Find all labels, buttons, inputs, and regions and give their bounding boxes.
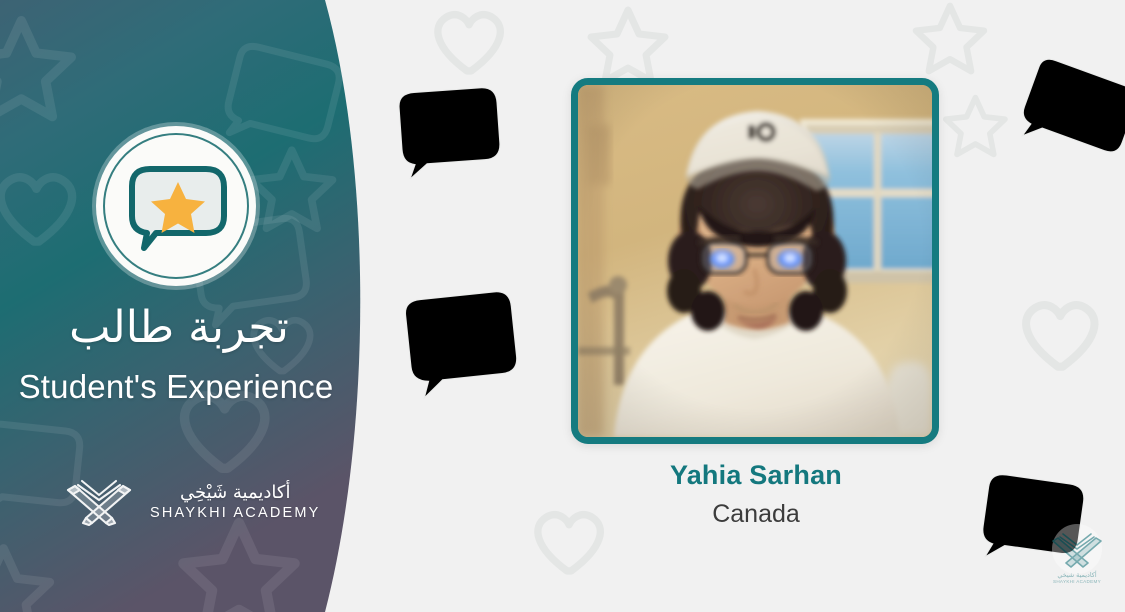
brand-text: أكاديمية شَيْخِي SHAYKHI ACADEMY bbox=[150, 483, 321, 522]
student-video-card[interactable] bbox=[571, 78, 939, 444]
heart-icon bbox=[438, 15, 500, 71]
review-badge bbox=[96, 126, 256, 286]
panel-title-arabic: تجربة طالب bbox=[0, 302, 358, 353]
watermark-logo: أكاديمية شيخي SHAYKHI ACADEMY bbox=[1044, 523, 1110, 585]
heart-icon bbox=[1026, 305, 1094, 367]
star-icon bbox=[946, 98, 1005, 155]
star-icon bbox=[591, 10, 665, 81]
brand-name-english: SHAYKHI ACADEMY bbox=[150, 505, 321, 521]
star-icon bbox=[916, 6, 984, 71]
speech-bubble-icon bbox=[1015, 56, 1125, 169]
brand-lockup: أكاديمية شَيْخِي SHAYKHI ACADEMY bbox=[60, 478, 321, 526]
student-video-still[interactable] bbox=[578, 85, 932, 437]
student-country: Canada bbox=[571, 500, 941, 529]
watermark-name-english: SHAYKHI ACADEMY bbox=[1053, 579, 1101, 584]
crossed-pens-book-icon bbox=[60, 478, 138, 526]
badge-ring bbox=[103, 133, 249, 279]
speech-bubble-icon bbox=[404, 290, 520, 399]
speech-bubble-icon bbox=[398, 87, 502, 180]
slide-canvas: تجربة طالب Student's Experience bbox=[0, 0, 1125, 612]
panel-title-english: Student's Experience bbox=[0, 368, 352, 406]
student-caption: Yahia Sarhan Canada bbox=[571, 460, 941, 529]
student-name: Yahia Sarhan bbox=[571, 460, 941, 491]
left-title-panel: تجربة طالب Student's Experience bbox=[0, 0, 380, 612]
brand-name-arabic: أكاديمية شَيْخِي bbox=[180, 483, 290, 503]
watermark-name-arabic: أكاديمية شيخي bbox=[1057, 570, 1096, 579]
